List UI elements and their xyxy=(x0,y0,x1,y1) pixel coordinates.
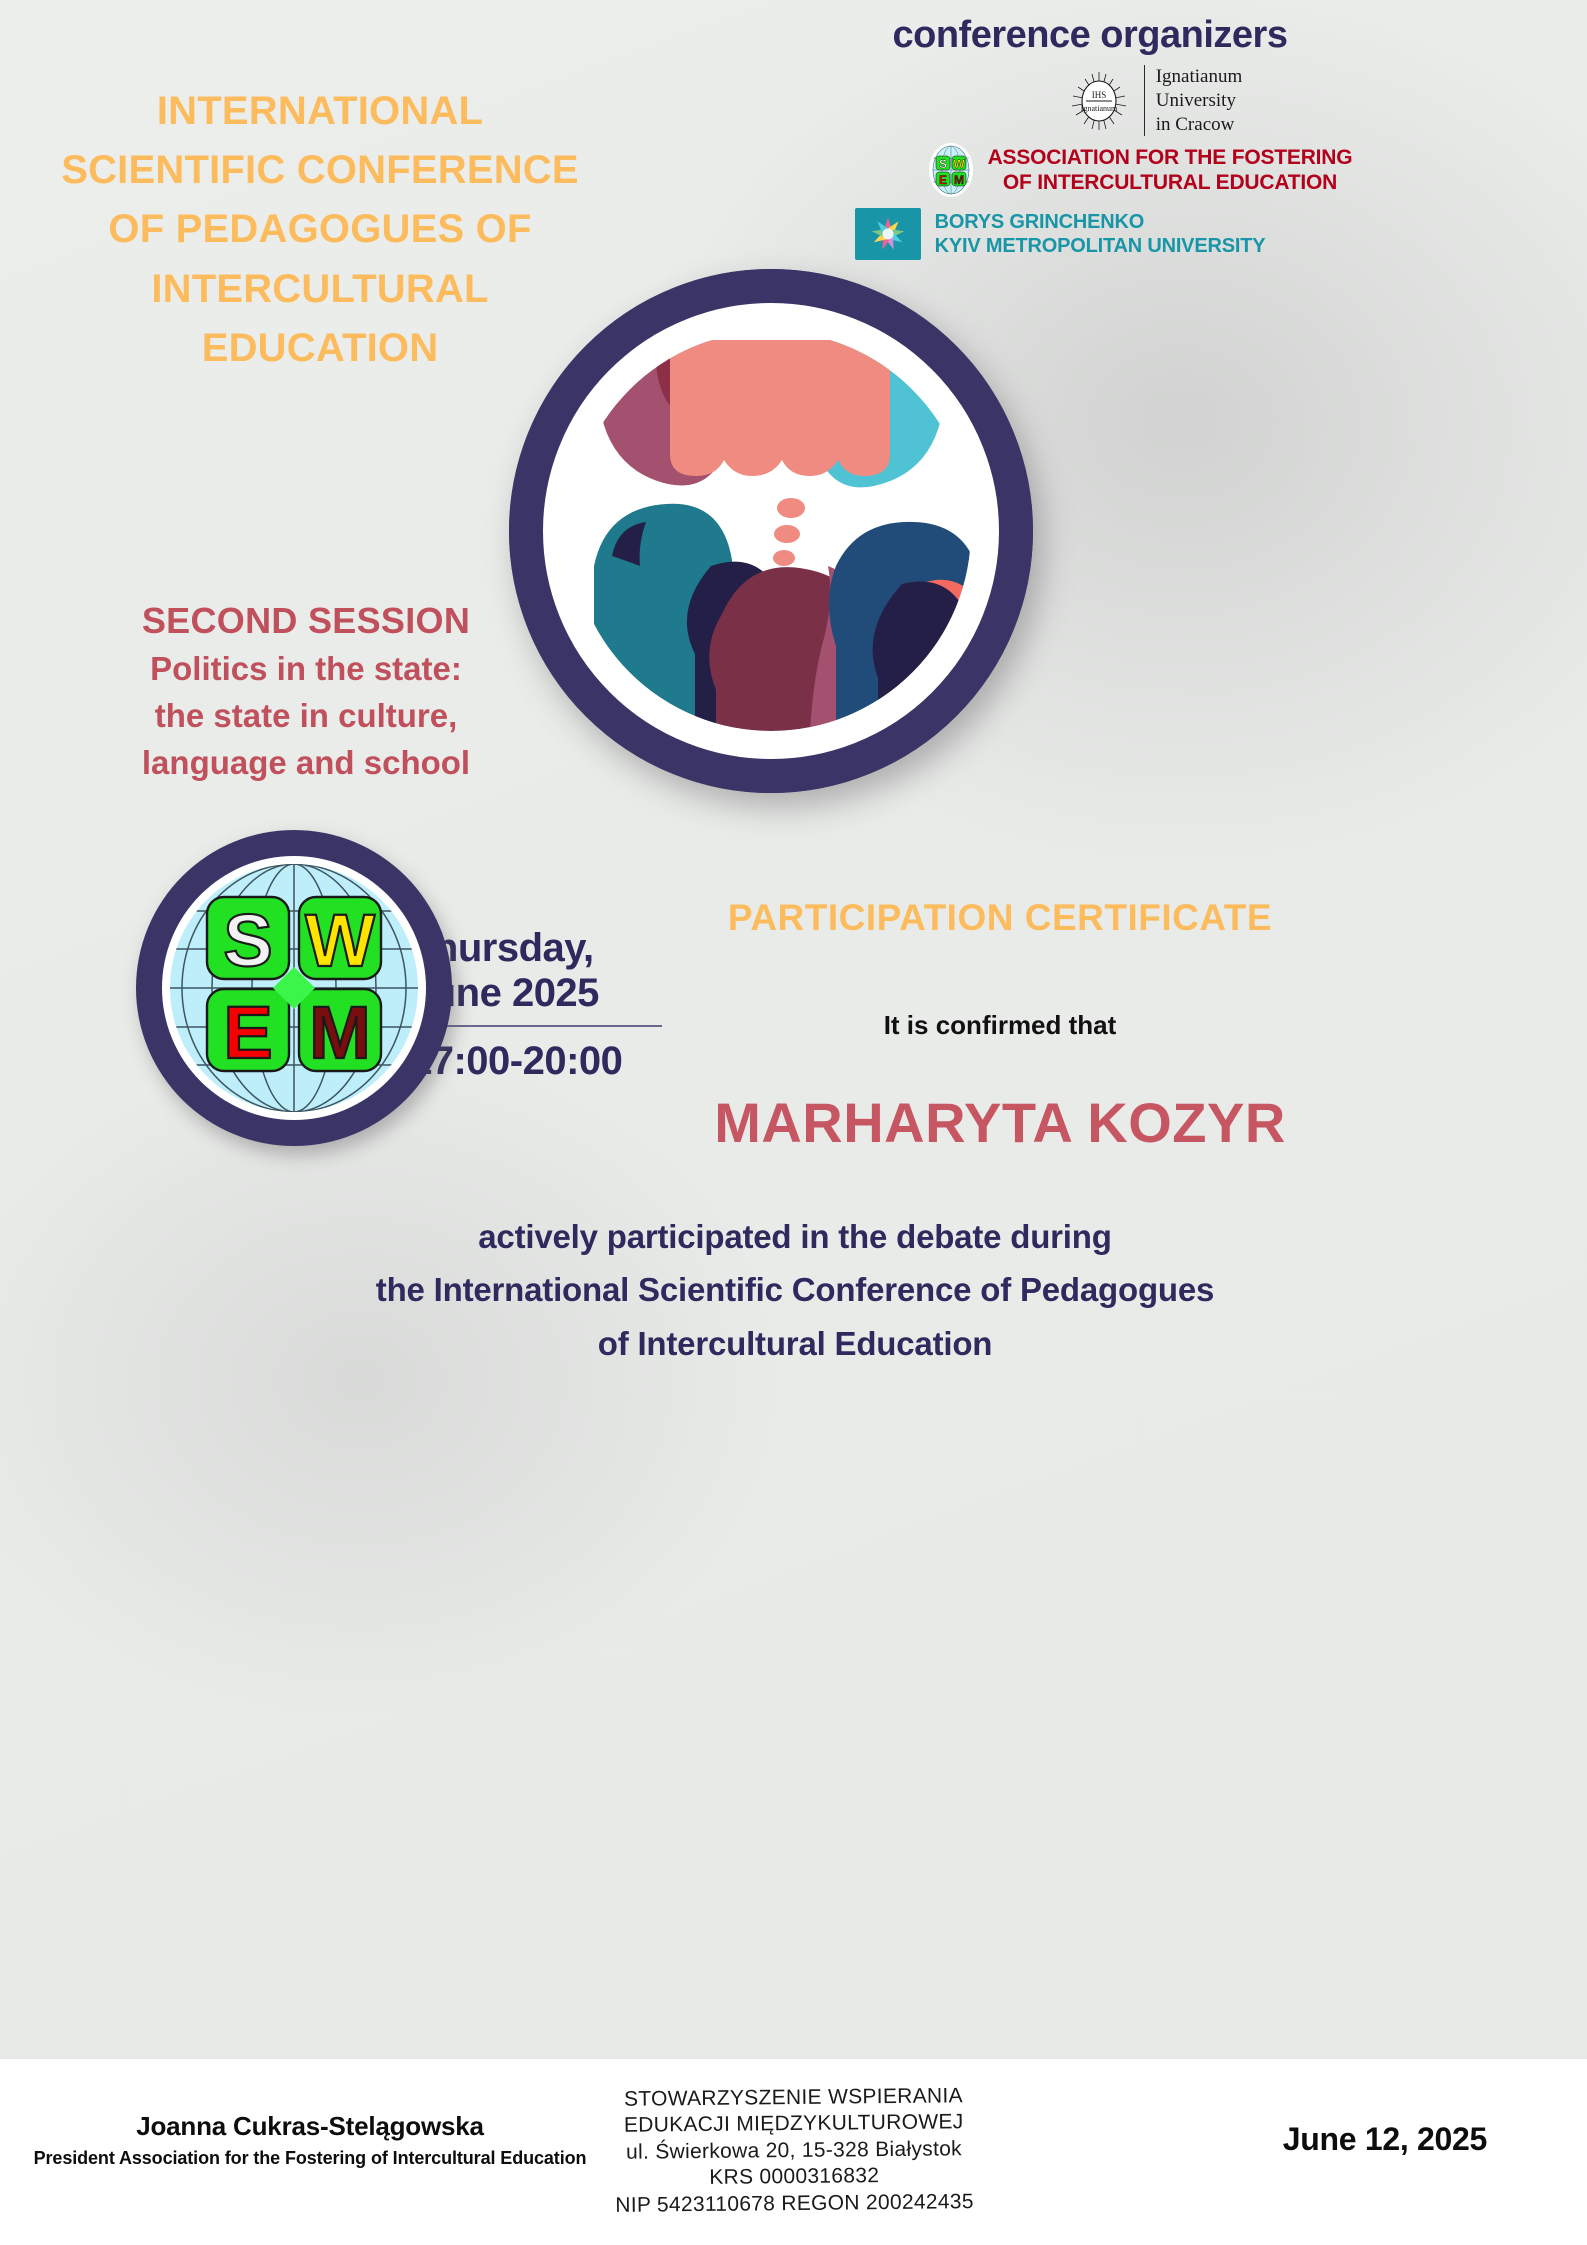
svg-text:IHS: IHS xyxy=(1091,90,1106,100)
organizer-association-label: ASSOCIATION FOR THE FOSTERING OF INTERCU… xyxy=(988,145,1353,195)
signatory-role: President Association for the Fostering … xyxy=(0,2148,620,2169)
organizer-grinchenko: BORYS GRINCHENKO KYIV METROPOLITAN UNIVE… xyxy=(540,208,1580,260)
svg-text:S: S xyxy=(939,157,947,171)
participation-certificate-heading: PARTICIPATION CERTIFICATE xyxy=(460,897,1540,939)
organizers-title: conference organizers xyxy=(600,14,1580,57)
organizer-grinchenko-label: BORYS GRINCHENKO KYIV METROPOLITAN UNIVE… xyxy=(935,210,1266,258)
svg-text:M: M xyxy=(954,173,964,187)
ignatianum-crest-icon: IHS Ignatianum xyxy=(1068,70,1130,132)
session-block: SECOND SESSION Politics in the state: th… xyxy=(46,600,566,787)
svg-text:Ignatianum: Ignatianum xyxy=(1081,104,1118,113)
swem-globe-icon: S W E M xyxy=(928,142,974,198)
intercultural-dialogue-illustration xyxy=(506,266,1036,796)
svg-text:M: M xyxy=(309,991,371,1074)
issue-date: June 12, 2025 xyxy=(1283,2121,1487,2158)
conference-organizers-block: conference organizers xyxy=(600,14,1580,260)
session-label: SECOND SESSION xyxy=(46,600,566,642)
certificate-page: conference organizers xyxy=(0,0,1587,2245)
swem-emblem-icon: S W E M xyxy=(133,827,455,1149)
confirmation-text: It is confirmed that xyxy=(460,1010,1540,1041)
signatory-block: Joanna Cukras-Stelągowska President Asso… xyxy=(0,2111,620,2169)
svg-text:W: W xyxy=(953,157,965,171)
certificate-body-text: actively participated in the debate duri… xyxy=(60,1210,1530,1370)
session-topic: Politics in the state: the state in cult… xyxy=(46,646,566,787)
signatory-name: Joanna Cukras-Stelągowska xyxy=(0,2111,620,2142)
svg-text:W: W xyxy=(305,899,375,982)
certificate-footer: Joanna Cukras-Stelągowska President Asso… xyxy=(0,2058,1587,2245)
svg-text:S: S xyxy=(223,899,272,982)
svg-text:E: E xyxy=(223,991,272,1074)
organizer-ignatianum: IHS Ignatianum Ignatianum University in … xyxy=(730,65,1580,136)
organizer-ignatianum-label: Ignatianum University in Cracow xyxy=(1144,65,1243,136)
organizer-association: S W E M ASSOCIATION FOR THE FOSTERING OF… xyxy=(700,142,1580,198)
svg-text:E: E xyxy=(939,173,947,187)
grinchenko-rosette-icon xyxy=(855,208,921,260)
organization-stamp: STOWARZYSZENIE WSPIERANIA EDUKACJI MIĘDZ… xyxy=(543,2082,1044,2219)
recipient-name: MARHARYTA KOZYR xyxy=(460,1090,1540,1155)
